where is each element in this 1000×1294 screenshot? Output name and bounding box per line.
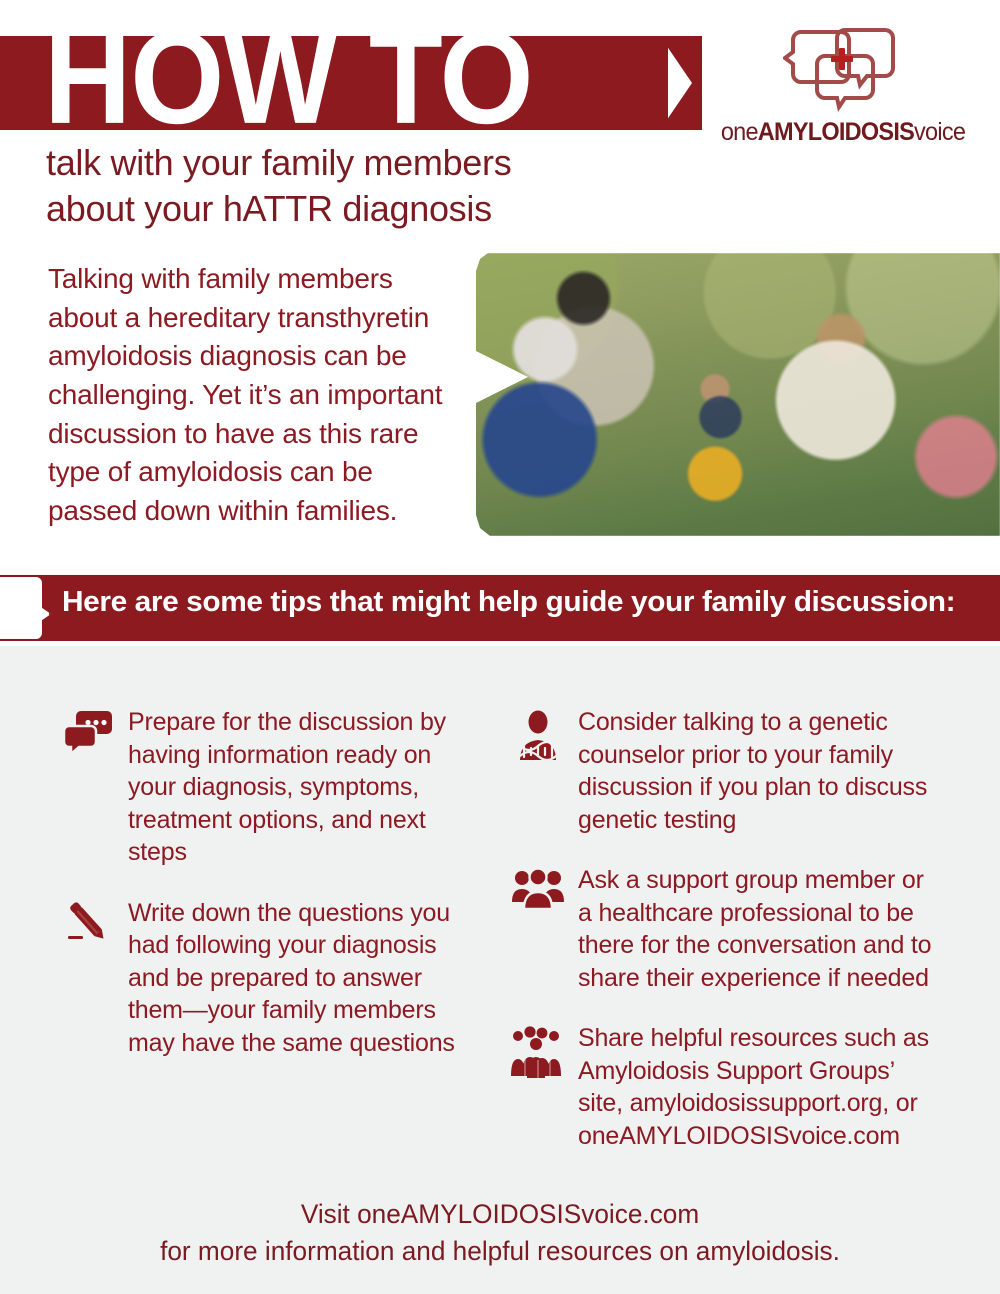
crowd-icon	[510, 1026, 566, 1078]
page-subtitle: talk with your family members about your…	[46, 140, 511, 232]
tip-icon-slot	[510, 1022, 566, 1078]
tip-item: Consider talking to a genetic counselor …	[510, 706, 940, 836]
tip-icon-slot	[510, 706, 566, 760]
person-dna-icon	[514, 710, 562, 760]
tip-text: Consider talking to a genetic counselor …	[578, 706, 940, 836]
header: HOW TO talk with your family members abo…	[0, 0, 1000, 240]
tip-item: Ask a support group member or a healthca…	[510, 864, 940, 994]
tip-text: Write down the questions you had followi…	[128, 897, 480, 1060]
footer-callout: Visit oneAMYLOIDOSISvoice.com for more i…	[15, 1196, 985, 1271]
intro-section: Talking with family members about a here…	[0, 240, 1000, 570]
brand-wordmark: oneAMYLOIDOSISvoice	[716, 118, 970, 147]
tips-section: Prepare for the discussion by having inf…	[0, 646, 1000, 1294]
brand-wordmark-post: voice	[914, 118, 965, 146]
tip-icon-slot	[60, 897, 116, 945]
tips-column-left: Prepare for the discussion by having inf…	[60, 706, 480, 1087]
speech-bubbles-icon	[63, 710, 113, 754]
hero-photo-image	[452, 253, 1000, 536]
tip-icon-slot	[510, 864, 566, 910]
hero-photo	[452, 253, 1000, 536]
page-title-kicker: HOW TO	[44, 12, 533, 144]
tip-item: Share helpful resources such as Amyloido…	[510, 1022, 940, 1152]
speech-bubbles-plus-icon	[783, 22, 903, 114]
intro-paragraph: Talking with family members about a here…	[48, 260, 468, 530]
people-group-icon	[512, 868, 564, 910]
pencil-icon	[63, 901, 113, 945]
tip-text: Share helpful resources such as Amyloido…	[578, 1022, 940, 1152]
tip-icon-slot	[60, 706, 116, 754]
tips-banner-heading: Here are some tips that might help guide…	[62, 586, 955, 619]
tip-text: Prepare for the discussion by having inf…	[128, 706, 480, 869]
tip-text: Ask a support group member or a healthca…	[578, 864, 940, 994]
footer-line-2: for more information and helpful resourc…	[15, 1233, 985, 1270]
tips-banner-bubble-notch	[0, 575, 44, 641]
tip-item: Prepare for the discussion by having inf…	[60, 706, 480, 869]
page-subtitle-line-2: about your hATTR diagnosis	[46, 186, 511, 232]
tips-column-right: Consider talking to a genetic counselor …	[510, 706, 940, 1180]
brand-logo[interactable]: oneAMYLOIDOSISvoice	[708, 22, 978, 147]
footer-line-1[interactable]: Visit oneAMYLOIDOSISvoice.com	[15, 1196, 985, 1233]
brand-wordmark-pre: one	[721, 118, 758, 146]
brand-wordmark-mid: AMYLOIDOSIS	[758, 118, 914, 146]
tip-item: Write down the questions you had followi…	[60, 897, 480, 1060]
